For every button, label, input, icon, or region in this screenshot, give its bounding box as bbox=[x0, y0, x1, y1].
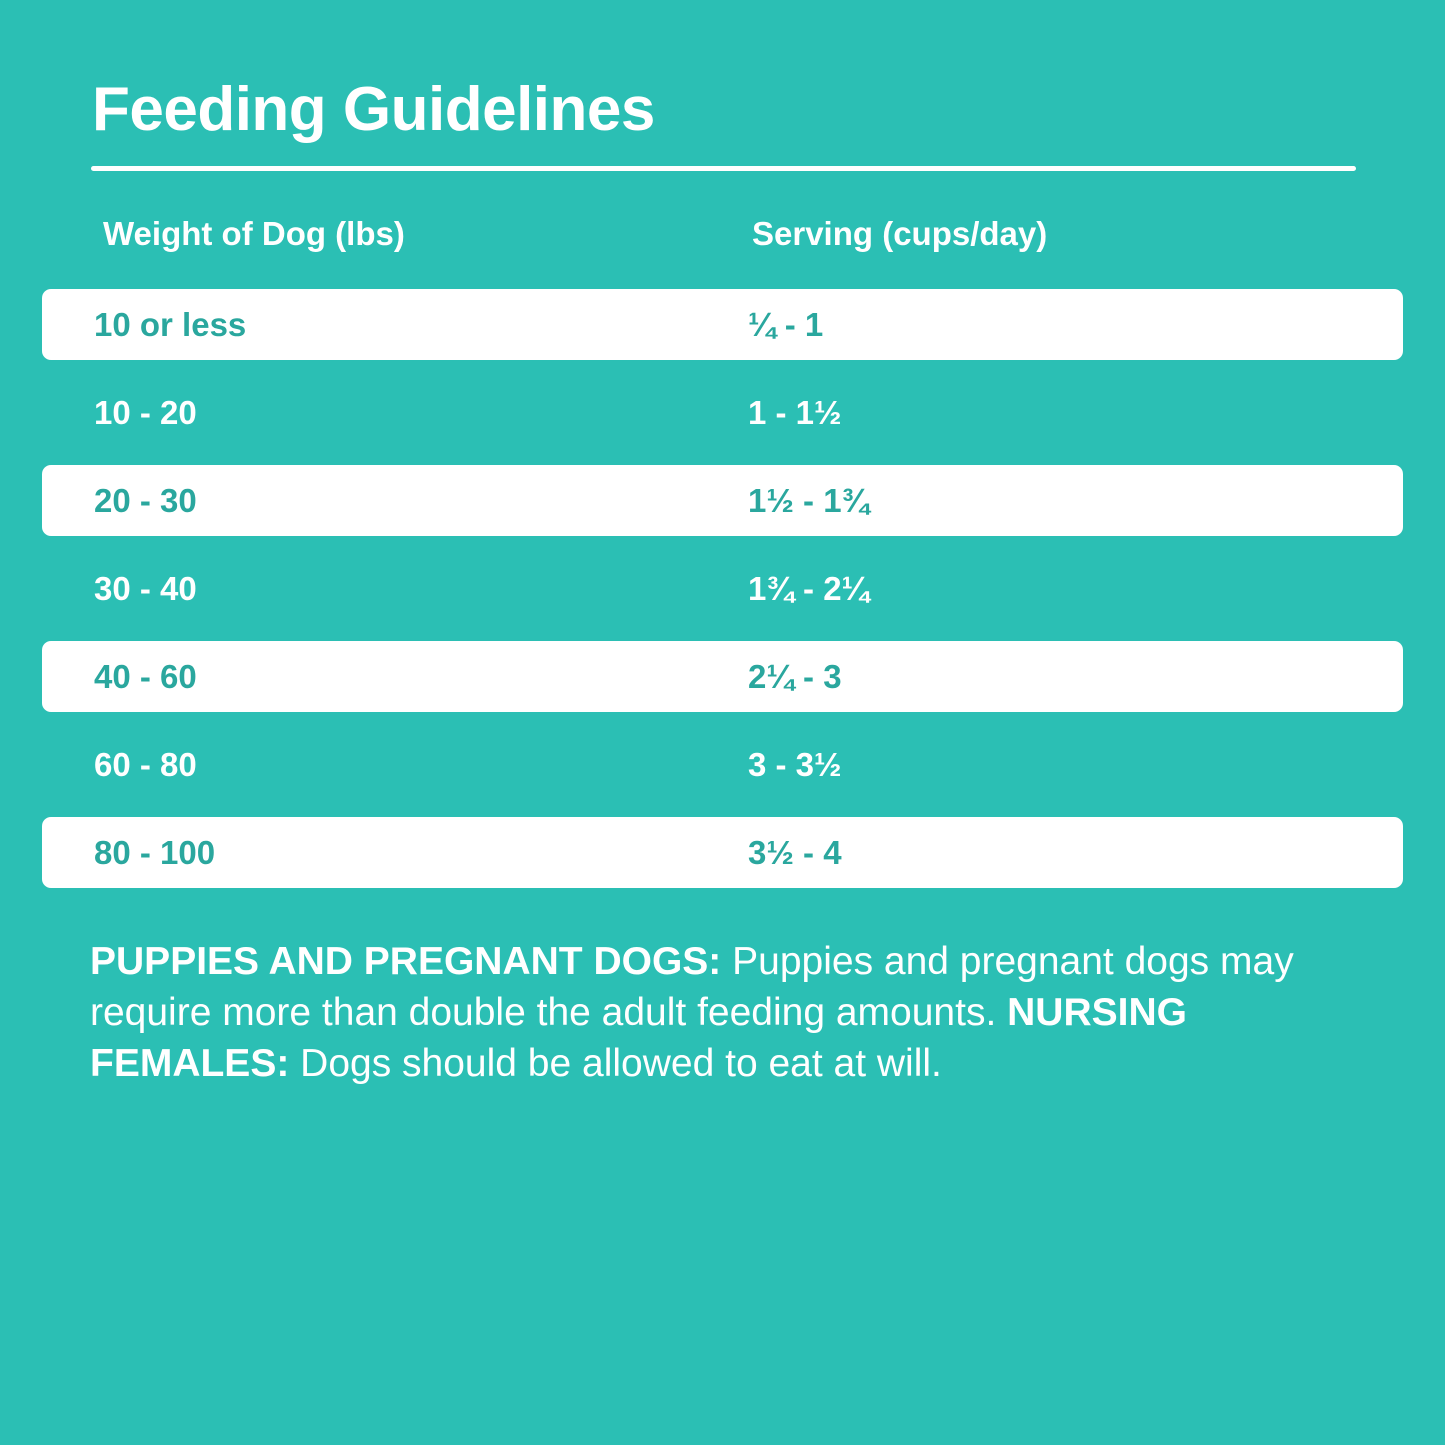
cell-weight: 10 or less bbox=[94, 289, 246, 360]
feeding-guidelines-panel: Feeding Guidelines Weight of Dog (lbs) S… bbox=[0, 0, 1445, 1445]
column-header-serving: Serving (cups/day) bbox=[752, 212, 1047, 256]
title-divider bbox=[91, 166, 1356, 171]
cell-weight: 60 - 80 bbox=[94, 729, 197, 800]
table-row-background bbox=[42, 377, 1403, 448]
table-row: 60 - 803 - 3½ bbox=[0, 729, 1445, 800]
footnote-text: PUPPIES AND PREGNANT DOGS: Puppies and p… bbox=[90, 936, 1380, 1089]
table-row: 10 or less¼ - 1 bbox=[0, 289, 1445, 360]
cell-weight: 30 - 40 bbox=[94, 553, 197, 624]
page-title: Feeding Guidelines bbox=[92, 74, 655, 146]
column-header-weight: Weight of Dog (lbs) bbox=[103, 212, 405, 256]
cell-serving: 1 - 1½ bbox=[748, 377, 842, 448]
cell-weight: 80 - 100 bbox=[94, 817, 215, 888]
table-row-background bbox=[42, 729, 1403, 800]
cell-serving: 3 - 3½ bbox=[748, 729, 842, 800]
cell-weight: 40 - 60 bbox=[94, 641, 197, 712]
cell-weight: 10 - 20 bbox=[94, 377, 197, 448]
cell-serving: 1¾ - 2¼ bbox=[748, 553, 869, 624]
footnote-label-puppies: PUPPIES AND PREGNANT DOGS: bbox=[90, 940, 721, 983]
table-row-background bbox=[42, 641, 1403, 712]
table-row: 10 - 201 - 1½ bbox=[0, 377, 1445, 448]
feeding-table: 10 or less¼ - 110 - 201 - 1½20 - 301½ - … bbox=[0, 289, 1445, 905]
cell-serving: ¼ - 1 bbox=[748, 289, 823, 360]
table-row: 80 - 1003½ - 4 bbox=[0, 817, 1445, 888]
table-row-background bbox=[42, 553, 1403, 624]
footnote-body-nursing: Dogs should be allowed to eat at will. bbox=[289, 1042, 942, 1085]
table-row-background bbox=[42, 817, 1403, 888]
cell-weight: 20 - 30 bbox=[94, 465, 197, 536]
table-row: 20 - 301½ - 1¾ bbox=[0, 465, 1445, 536]
cell-serving: 1½ - 1¾ bbox=[748, 465, 869, 536]
table-row: 30 - 401¾ - 2¼ bbox=[0, 553, 1445, 624]
table-row-background bbox=[42, 465, 1403, 536]
cell-serving: 3½ - 4 bbox=[748, 817, 842, 888]
table-row: 40 - 602¼ - 3 bbox=[0, 641, 1445, 712]
table-column-headers: Weight of Dog (lbs) Serving (cups/day) bbox=[0, 212, 1445, 270]
cell-serving: 2¼ - 3 bbox=[748, 641, 842, 712]
